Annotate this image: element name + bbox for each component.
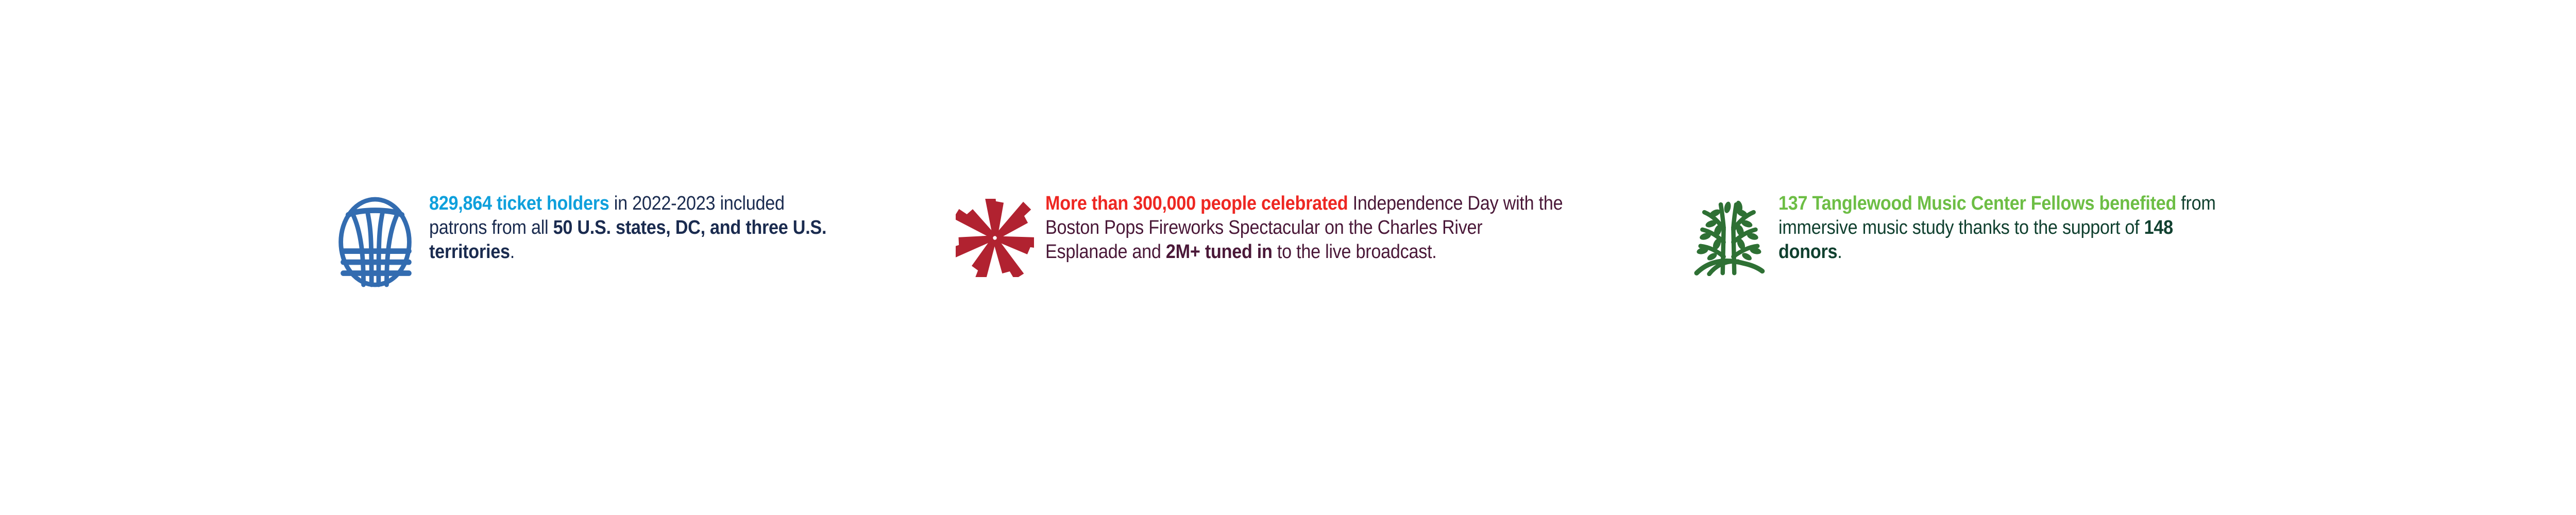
- statistics-infographic: 829,864 ticket holders in 2022-2023 incl…: [0, 0, 2576, 515]
- tree-icon: [1690, 196, 1767, 276]
- stat-text-tanglewood-fellows: 137 Tanglewood Music Center Fellows bene…: [1778, 192, 2227, 264]
- stat-text-ticket-holders: 829,864 ticket holders in 2022-2023 incl…: [429, 192, 834, 264]
- stat-lead-fireworks: More than 300,000 people celebrated: [1045, 193, 1348, 214]
- stat-emphasis-fireworks: 2M+ tuned in: [1166, 241, 1273, 263]
- stat-block-fireworks: More than 300,000 people celebrated Inde…: [956, 192, 1620, 277]
- stat-text-fireworks: More than 300,000 people celebrated Inde…: [1045, 192, 1563, 264]
- stat-lead-ticket-holders: 829,864 ticket holders: [429, 193, 609, 214]
- firework-burst-icon: [956, 199, 1034, 277]
- stat-block-tanglewood-fellows: 137 Tanglewood Music Center Fellows bene…: [1690, 192, 2277, 276]
- stat-tail-fireworks: to the live broadcast.: [1273, 241, 1437, 263]
- stat-tail-tanglewood-fellows: .: [1837, 241, 1842, 263]
- stat-block-ticket-holders: 829,864 ticket holders in 2022-2023 incl…: [332, 192, 878, 287]
- stat-lead-tanglewood-fellows: 137 Tanglewood Music Center Fellows bene…: [1778, 193, 2176, 214]
- stat-tail-ticket-holders: .: [510, 241, 515, 263]
- globe-ticket-icon: [332, 197, 418, 287]
